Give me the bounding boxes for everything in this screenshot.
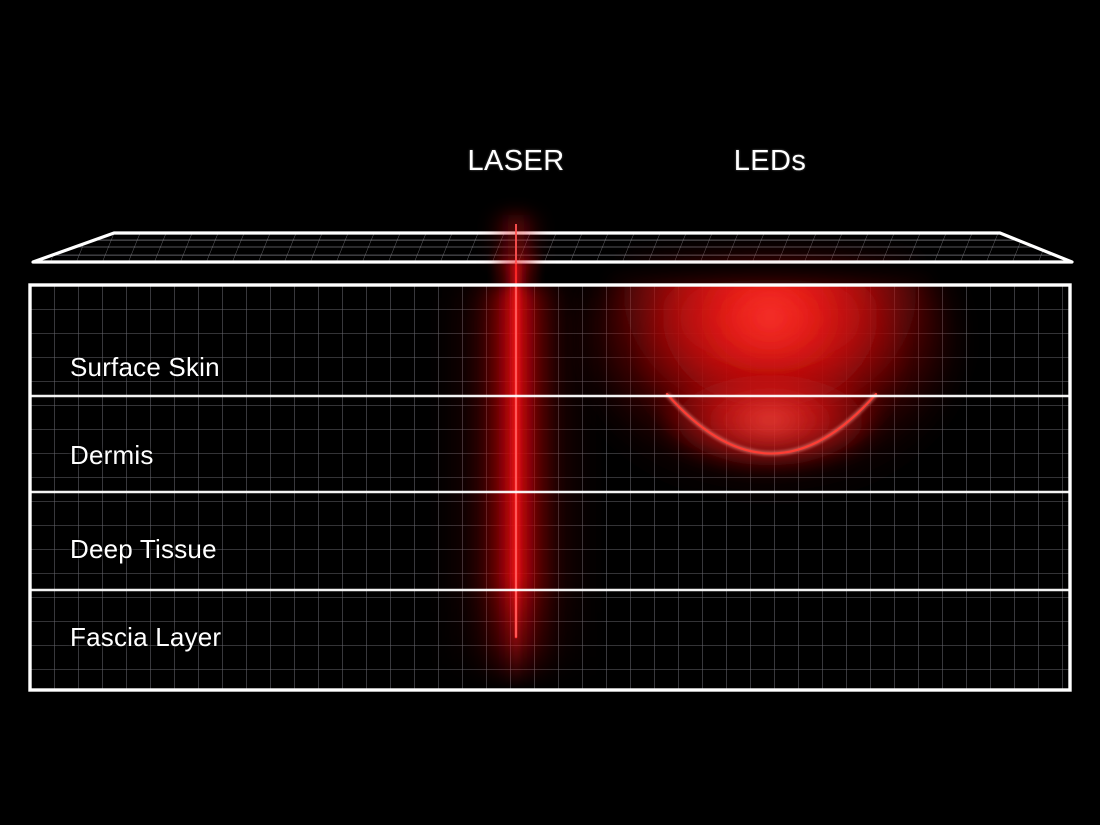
layer-label-dermis: Dermis xyxy=(70,440,154,471)
layer-name-text: Fascia Layer xyxy=(70,622,221,652)
diagram-canvas: LASER LEDs Surface Skin Dermis Deep Tiss… xyxy=(0,0,1100,825)
layer-label-fascia-layer: Fascia Layer xyxy=(70,622,221,653)
leds-label-text: LEDs xyxy=(734,145,807,177)
layer-label-surface-skin: Surface Skin xyxy=(70,352,220,383)
source-label-leds: LEDs xyxy=(734,145,807,178)
tissue-penetration-diagram xyxy=(0,0,1100,825)
source-label-laser: LASER xyxy=(467,145,564,178)
layer-name-text: Deep Tissue xyxy=(70,534,217,564)
layer-name-text: Surface Skin xyxy=(70,352,220,382)
laser-label-text: LASER xyxy=(467,145,564,177)
laser-beam-above-surface xyxy=(488,215,544,265)
layer-label-deep-tissue: Deep Tissue xyxy=(70,534,217,565)
layer-name-text: Dermis xyxy=(70,440,154,470)
